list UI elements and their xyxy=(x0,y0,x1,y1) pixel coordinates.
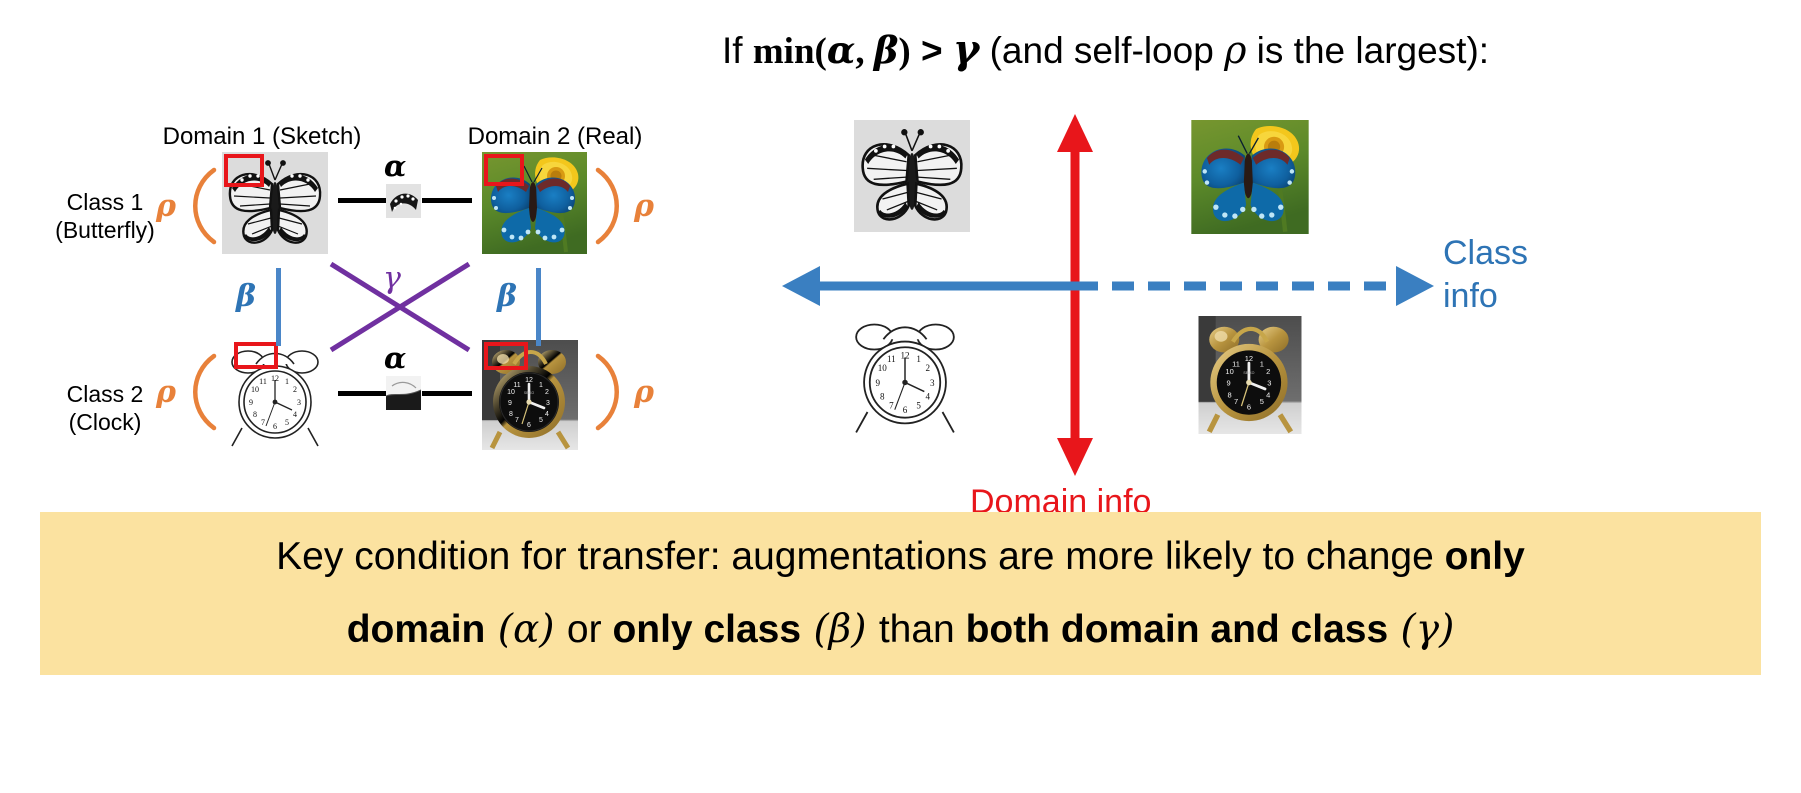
svg-text:10: 10 xyxy=(507,389,515,396)
alpha-edge-bottom-right-segment xyxy=(422,391,472,396)
svg-text:12: 12 xyxy=(900,351,910,361)
svg-text:5: 5 xyxy=(1260,397,1264,406)
svg-text:SEIKO: SEIKO xyxy=(1243,371,1254,375)
rho-label-class2-domain1: ρ xyxy=(156,375,176,410)
svg-text:5: 5 xyxy=(285,418,289,427)
alpha-edge-bottom-left-segment xyxy=(338,391,386,396)
class-info-label-line1: Class xyxy=(1443,232,1528,275)
key-line1-text: Key condition for transfer: augmentation… xyxy=(276,535,1444,578)
svg-text:1: 1 xyxy=(285,377,289,386)
beta-edge-domain1 xyxy=(276,268,281,346)
svg-text:1: 1 xyxy=(1260,359,1264,368)
patch-highlight-box-sketch-butterfly xyxy=(224,154,264,187)
svg-text:1: 1 xyxy=(916,354,921,364)
svg-text:6: 6 xyxy=(903,405,908,415)
beta-label-domain1: β xyxy=(236,279,256,314)
svg-text:8: 8 xyxy=(509,411,513,418)
gamma-label-center: γ xyxy=(383,261,401,296)
svg-text:6: 6 xyxy=(1247,402,1251,411)
class-info-label: Class info xyxy=(1443,232,1528,317)
svg-text:4: 4 xyxy=(545,411,549,418)
key-line2-alpha: (α) xyxy=(485,607,567,652)
class-1-label-line1: Class 1 xyxy=(40,188,170,216)
svg-text:7: 7 xyxy=(261,418,265,427)
svg-text:4: 4 xyxy=(293,410,297,419)
svg-text:7: 7 xyxy=(515,417,519,424)
svg-text:5: 5 xyxy=(539,417,543,424)
svg-text:12: 12 xyxy=(271,374,279,383)
svg-text:9: 9 xyxy=(508,400,512,407)
svg-text:12: 12 xyxy=(525,377,533,384)
svg-text:2: 2 xyxy=(925,363,930,373)
svg-text:3: 3 xyxy=(1267,379,1271,388)
quadrant-real-butterfly-image xyxy=(1190,120,1310,234)
key-line2-class: only class xyxy=(612,608,801,651)
key-line2-or: or xyxy=(567,608,613,651)
svg-text:11: 11 xyxy=(513,382,520,389)
sketch-butterfly-image xyxy=(222,152,328,254)
condition-greater-than: > xyxy=(911,30,953,71)
svg-text:9: 9 xyxy=(1226,379,1230,388)
self-loop-arc-class1-domain1 xyxy=(181,166,221,246)
self-loop-arc-class2-domain1 xyxy=(181,352,221,432)
domain-1-title: Domain 1 (Sketch) xyxy=(112,123,412,151)
class-info-label-line2: info xyxy=(1443,275,1528,318)
domain-2-title: Domain 2 (Real) xyxy=(405,123,705,151)
key-line2-than: than xyxy=(879,608,966,651)
condition-prefix: If xyxy=(722,30,753,71)
svg-text:11: 11 xyxy=(259,377,267,386)
svg-text:2: 2 xyxy=(1266,367,1270,376)
class-1-label-line2: (Butterfly) xyxy=(40,216,170,244)
svg-text:8: 8 xyxy=(253,410,257,419)
alpha-edge-top-right-segment xyxy=(422,198,472,203)
rho-label-class1-domain2: ρ xyxy=(634,189,654,224)
key-line2-domain: domain xyxy=(347,608,486,651)
svg-text:11: 11 xyxy=(887,354,896,364)
class-1-label: Class 1 (Butterfly) xyxy=(40,188,170,244)
svg-text:8: 8 xyxy=(1228,391,1232,400)
svg-text:3: 3 xyxy=(297,398,301,407)
key-line2-both: both domain and class xyxy=(966,608,1389,651)
alpha-edge-top-left-segment xyxy=(338,198,386,203)
svg-text:10: 10 xyxy=(251,385,259,394)
svg-text:7: 7 xyxy=(1234,397,1238,406)
svg-text:11: 11 xyxy=(1232,359,1240,368)
condition-rho: ρ xyxy=(1224,28,1246,72)
svg-text:12: 12 xyxy=(1245,354,1253,363)
svg-text:4: 4 xyxy=(925,392,930,402)
svg-text:10: 10 xyxy=(878,363,888,373)
svg-text:9: 9 xyxy=(875,378,880,388)
condition-header: If min(α, β) > γ (and self-loop ρ is the… xyxy=(722,26,1489,74)
svg-text:6: 6 xyxy=(273,422,277,431)
butterfly-patch-image xyxy=(386,184,421,218)
class-2-label-line2: (Clock) xyxy=(40,408,170,436)
beta-edge-domain2 xyxy=(536,268,541,346)
svg-text:2: 2 xyxy=(293,385,297,394)
svg-text:4: 4 xyxy=(1266,391,1270,400)
key-condition-line-1: Key condition for transfer: augmentation… xyxy=(276,521,1525,593)
svg-text:9: 9 xyxy=(249,398,253,407)
alpha-label-top: α xyxy=(384,149,406,183)
real-butterfly-image xyxy=(482,152,587,254)
condition-suffix-post: is the largest): xyxy=(1246,30,1489,71)
patch-highlight-box-sketch-clock xyxy=(234,342,278,369)
svg-text:8: 8 xyxy=(880,392,885,402)
quadrant-sketch-clock-image: 1212 345 678 91011 xyxy=(840,312,970,437)
class-info-axis-arrow xyxy=(778,258,1438,314)
svg-text:3: 3 xyxy=(546,400,550,407)
svg-text:7: 7 xyxy=(889,401,894,411)
patch-highlight-box-real-butterfly xyxy=(484,154,524,186)
condition-min-expression: min(α, β) xyxy=(753,30,911,71)
sketch-clock-image: 1212 345 678 91011 xyxy=(222,340,328,450)
self-loop-arc-class1-domain2 xyxy=(591,166,631,246)
quadrant-sketch-butterfly-image xyxy=(854,120,970,232)
self-loop-arc-class2-domain2 xyxy=(591,352,631,432)
patch-highlight-box-real-clock xyxy=(484,342,528,370)
real-clock-image: 12369 1245 781011 SEIKO xyxy=(482,340,578,450)
clock-patch-image xyxy=(386,376,421,410)
condition-suffix-pre: (and self-loop xyxy=(979,30,1224,71)
class-2-label: Class 2 (Clock) xyxy=(40,380,170,436)
svg-text:6: 6 xyxy=(527,422,531,429)
quadrant-real-clock-image: 12369 1245 781011 SEIKO xyxy=(1192,316,1308,434)
key-condition-line-2: domain (α) or only class (β) than both d… xyxy=(347,594,1455,666)
key-line2-beta: (β) xyxy=(801,607,879,652)
svg-text:SEIKO: SEIKO xyxy=(524,391,535,395)
class-2-label-line1: Class 2 xyxy=(40,380,170,408)
beta-label-domain2: β xyxy=(497,279,517,314)
svg-text:2: 2 xyxy=(545,389,549,396)
svg-text:5: 5 xyxy=(916,401,921,411)
condition-gamma: γ xyxy=(953,26,979,73)
key-line1-emphasis: only xyxy=(1445,535,1525,578)
key-line2-gamma: (γ) xyxy=(1388,607,1454,652)
key-condition-banner: Key condition for transfer: augmentation… xyxy=(40,512,1761,675)
svg-text:3: 3 xyxy=(930,378,935,388)
rho-label-class2-domain2: ρ xyxy=(634,375,654,410)
rho-label-class1-domain1: ρ xyxy=(156,189,176,224)
svg-text:1: 1 xyxy=(539,382,543,389)
